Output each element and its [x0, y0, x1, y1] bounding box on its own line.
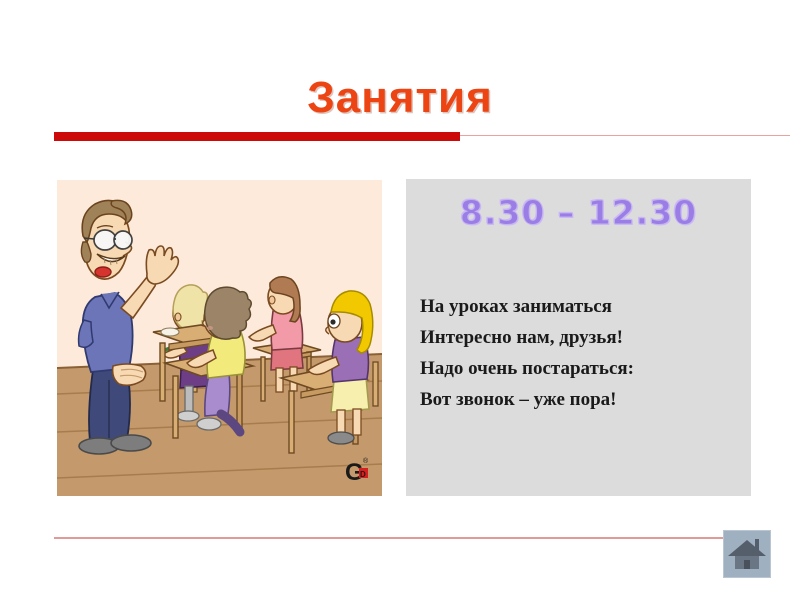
- svg-text:®: ®: [363, 457, 369, 465]
- classroom-cartoon-svg: G D ®: [57, 180, 382, 496]
- divider-bottom: [54, 537, 726, 539]
- poem-block: На уроках заниматься Интересно нам, друз…: [420, 291, 740, 415]
- time-range-label: 8.30 – 12.30: [406, 194, 751, 232]
- home-icon: [724, 531, 770, 577]
- poem-line-4: Вот звонок – уже пора!: [420, 384, 740, 415]
- divider-top: [54, 132, 790, 141]
- svg-text:D: D: [360, 470, 366, 479]
- slide-root: Занятия: [0, 0, 800, 600]
- poem-line-1: На уроках заниматься: [420, 291, 740, 322]
- page-title: Занятия: [0, 74, 800, 122]
- home-button[interactable]: [723, 530, 771, 578]
- divider-top-thick-bar: [54, 132, 460, 141]
- classroom-cartoon-image: G D ®: [57, 180, 382, 496]
- poem-line-2: Интересно нам, друзья!: [420, 322, 740, 353]
- info-panel: 8.30 – 12.30 На уроках заниматься Интере…: [406, 179, 751, 496]
- poem-line-3: Надо очень постараться:: [420, 353, 740, 384]
